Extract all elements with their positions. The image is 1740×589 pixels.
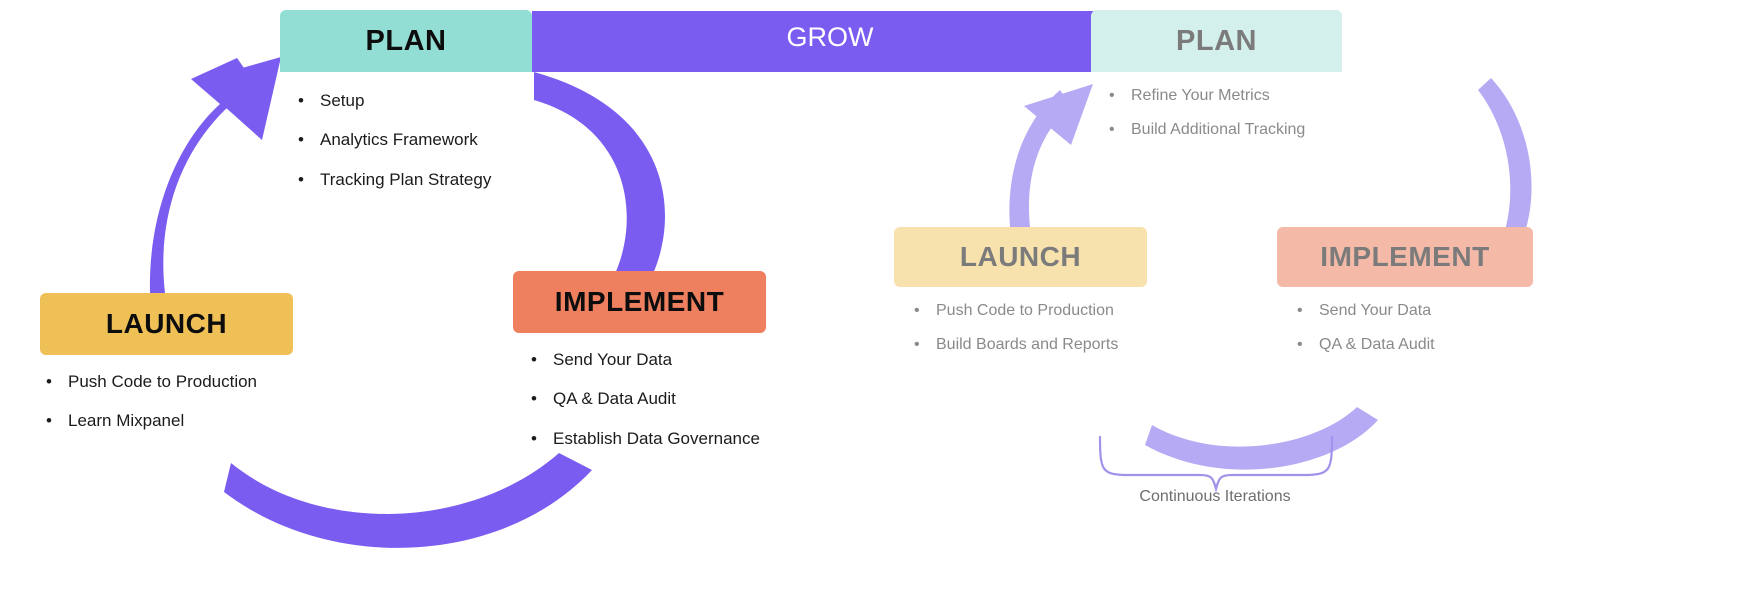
- list-item-label: Push Code to Production: [936, 302, 1114, 319]
- list-item: •Send Your Data: [1291, 301, 1533, 321]
- list-item-label: Analytics Framework: [320, 130, 478, 149]
- list-item: •QA & Data Audit: [525, 388, 766, 409]
- bullet-icon: •: [46, 410, 52, 431]
- list-item: •Setup: [292, 90, 532, 111]
- launch-to-plan-arrowhead: [196, 57, 281, 140]
- implement-to-launch-arrow-faded: [1145, 407, 1378, 470]
- bullet-icon: •: [298, 169, 304, 190]
- phase-implement-faded-bullets: •Send Your Data •QA & Data Audit: [1291, 301, 1533, 355]
- bullet-icon: •: [531, 349, 537, 370]
- list-item: •Send Your Data: [525, 349, 766, 370]
- plan-to-implement-arrow: [534, 72, 665, 276]
- launch-to-plan-arrowhead-faded: [1024, 84, 1093, 145]
- phase-launch-faded[interactable]: LAUNCH •Push Code to Production •Build B…: [894, 227, 1147, 369]
- grow-arrow: [532, 11, 1136, 72]
- list-item: •QA & Data Audit: [1291, 335, 1533, 355]
- bullet-icon: •: [298, 129, 304, 150]
- grow-label: GROW: [700, 22, 960, 53]
- phase-launch-active-bullets: •Push Code to Production •Learn Mixpanel: [40, 371, 293, 432]
- phase-implement-faded-title: IMPLEMENT: [1277, 227, 1533, 287]
- phase-launch-faded-title: LAUNCH: [894, 227, 1147, 287]
- bullet-icon: •: [1109, 120, 1115, 140]
- bullet-icon: •: [1109, 86, 1115, 106]
- list-item: •Push Code to Production: [908, 301, 1147, 321]
- list-item: •Build Additional Tracking: [1103, 120, 1342, 140]
- phase-launch-active-title: LAUNCH: [40, 293, 293, 355]
- list-item-label: Push Code to Production: [68, 372, 257, 391]
- list-item-label: Learn Mixpanel: [68, 411, 184, 430]
- phase-implement-active-bullets: •Send Your Data •QA & Data Audit •Establ…: [525, 349, 766, 449]
- phase-plan-active-bullets: •Setup •Analytics Framework •Tracking Pl…: [292, 90, 532, 190]
- list-item: •Tracking Plan Strategy: [292, 169, 532, 190]
- launch-to-plan-arrow: [150, 58, 256, 293]
- phase-plan-faded-bullets: •Refine Your Metrics •Build Additional T…: [1103, 86, 1342, 140]
- phase-implement-active-title: IMPLEMENT: [513, 271, 766, 333]
- list-item-label: Build Boards and Reports: [936, 336, 1118, 353]
- bullet-icon: •: [1297, 335, 1303, 355]
- list-item-label: QA & Data Audit: [553, 389, 676, 408]
- continuous-iterations-brace: [1100, 437, 1332, 489]
- bullet-icon: •: [531, 388, 537, 409]
- list-item-label: Tracking Plan Strategy: [320, 170, 491, 189]
- list-item: •Establish Data Governance: [525, 428, 766, 449]
- phase-plan-faded[interactable]: PLAN •Refine Your Metrics •Build Additio…: [1091, 10, 1342, 154]
- list-item-label: Send Your Data: [1319, 302, 1431, 319]
- plan-to-implement-arrow-faded: [1478, 78, 1532, 248]
- list-item-label: Establish Data Governance: [553, 429, 760, 448]
- phase-launch-faded-bullets: •Push Code to Production •Build Boards a…: [908, 301, 1147, 355]
- list-item: •Learn Mixpanel: [40, 410, 293, 431]
- bullet-icon: •: [531, 428, 537, 449]
- phase-plan-faded-title: PLAN: [1091, 10, 1342, 72]
- list-item-label: Setup: [320, 91, 364, 110]
- list-item-label: Build Additional Tracking: [1131, 121, 1305, 138]
- phase-implement-faded[interactable]: IMPLEMENT •Send Your Data •QA & Data Aud…: [1277, 227, 1533, 369]
- diagram-canvas: GROW PLAN •Setup •Analytics Framework •T…: [0, 0, 1740, 589]
- list-item-label: QA & Data Audit: [1319, 336, 1435, 353]
- phase-plan-active-title: PLAN: [280, 10, 532, 72]
- list-item-label: Refine Your Metrics: [1131, 87, 1270, 104]
- list-item: •Push Code to Production: [40, 371, 293, 392]
- bullet-icon: •: [46, 371, 52, 392]
- list-item-label: Send Your Data: [553, 350, 672, 369]
- bullet-icon: •: [914, 301, 920, 321]
- list-item: •Refine Your Metrics: [1103, 86, 1342, 106]
- list-item: •Analytics Framework: [292, 129, 532, 150]
- bullet-icon: •: [914, 335, 920, 355]
- implement-to-launch-arrow: [224, 453, 592, 548]
- list-item: •Build Boards and Reports: [908, 335, 1147, 355]
- bullet-icon: •: [1297, 301, 1303, 321]
- phase-implement-active[interactable]: IMPLEMENT •Send Your Data •QA & Data Aud…: [513, 271, 766, 467]
- bullet-icon: •: [298, 90, 304, 111]
- launch-to-plan-arrow-faded: [1009, 90, 1071, 227]
- continuous-iterations-label: Continuous Iterations: [1065, 488, 1365, 506]
- phase-plan-active[interactable]: PLAN •Setup •Analytics Framework •Tracki…: [280, 10, 532, 208]
- phase-launch-active[interactable]: LAUNCH •Push Code to Production •Learn M…: [40, 293, 293, 450]
